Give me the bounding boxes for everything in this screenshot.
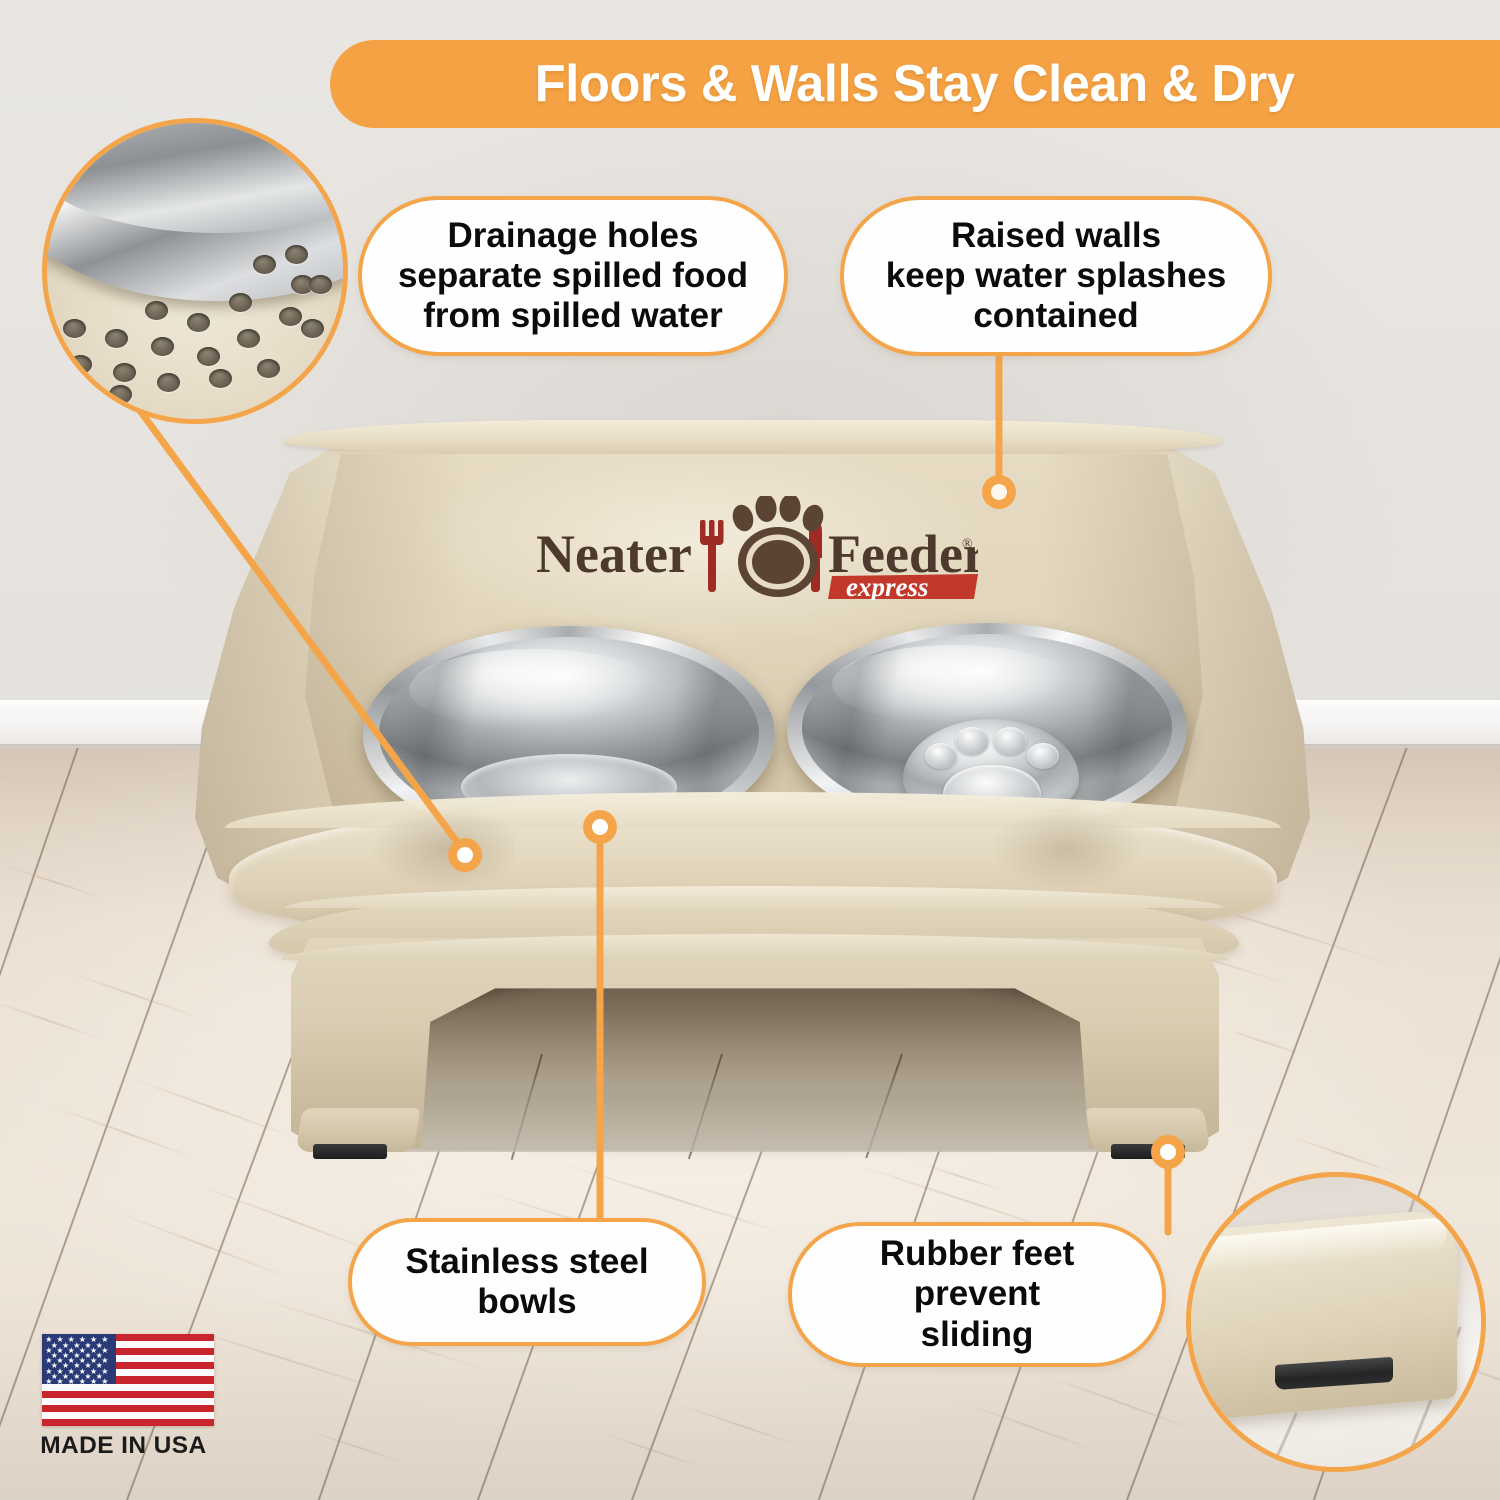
logo-word-neater: Neater <box>536 524 692 584</box>
flag-stripe <box>42 1419 214 1426</box>
product-feature-infographic: Neater Feeder ® express <box>0 0 1500 1500</box>
logo-registered-mark: ® <box>962 537 973 552</box>
paw-pad-4 <box>1027 743 1059 769</box>
drainage-hole <box>309 275 332 294</box>
logo-word-express: express <box>846 572 929 600</box>
drainage-holes-callout: Drainage holes separate spilled food fro… <box>358 196 788 356</box>
drainage-hole <box>63 319 86 338</box>
rubber-feet-callout-text: Rubber feet prevent sliding <box>880 1234 1074 1355</box>
flag-star: ★ <box>101 1378 108 1386</box>
paw-pad-3 <box>993 727 1027 755</box>
drainage-hole <box>209 369 232 388</box>
flag-canton: ★★★★★★★★★★★★★★★★★★★★★★★★★★★★★★★★★★★★★★★★… <box>42 1334 116 1384</box>
drainage-hole <box>285 245 308 264</box>
raised-walls-callout-text: Raised walls keep water splashes contain… <box>886 216 1226 337</box>
drainage-hole <box>109 385 132 404</box>
neater-feeder-express-product: Neater Feeder ® express <box>195 418 1310 1158</box>
drainage-hole <box>253 255 276 274</box>
paw-pad-2 <box>955 727 989 755</box>
rubber-foot-photo <box>1186 1172 1486 1472</box>
flag-star: ★ <box>45 1378 52 1386</box>
drainage-hole <box>301 319 324 338</box>
banner-title: Floors & Walls Stay Clean & Dry <box>535 54 1295 114</box>
drainage-hole <box>279 307 302 326</box>
made-in-usa-badge: ★★★★★★★★★★★★★★★★★★★★★★★★★★★★★★★★★★★★★★★★… <box>42 1334 220 1462</box>
header-banner: Floors & Walls Stay Clean & Dry <box>330 40 1500 128</box>
rubber-foot-left <box>313 1144 387 1159</box>
flag-star: ★ <box>68 1378 75 1386</box>
plate-icon <box>738 527 818 597</box>
flag-star: ★ <box>90 1378 97 1386</box>
pedestal-arch-floor <box>395 1068 1117 1152</box>
made-in-usa-label: MADE IN USA <box>40 1432 222 1460</box>
raised-walls-callout: Raised walls keep water splashes contain… <box>840 196 1272 356</box>
drainage-holes-callout-text: Drainage holes separate spilled food fro… <box>398 216 748 337</box>
drainage-hole <box>187 313 210 332</box>
rubber-feet-callout: Rubber feet prevent sliding <box>788 1222 1166 1367</box>
drainage-hole <box>229 293 252 312</box>
drainage-hole <box>257 359 280 378</box>
drainage-hole <box>237 329 260 348</box>
us-flag-icon: ★★★★★★★★★★★★★★★★★★★★★★★★★★★★★★★★★★★★★★★★… <box>42 1334 214 1426</box>
drainage-hole <box>105 329 128 348</box>
drainage-hole <box>151 337 174 356</box>
drainage-holes-photo <box>42 118 348 424</box>
flag-stripe <box>42 1391 214 1398</box>
drainage-hole <box>113 363 136 382</box>
feeder-top-rim <box>283 420 1223 454</box>
stainless-bowls-callout-text: Stainless steel bowls <box>405 1242 648 1323</box>
neater-feeder-logo: Neater Feeder ® express <box>528 496 978 600</box>
express-banner: express <box>828 572 978 600</box>
stainless-bowls-callout: Stainless steel bowls <box>348 1218 706 1346</box>
flag-stripe <box>42 1405 214 1412</box>
drainage-hole <box>69 355 92 374</box>
drainage-hole <box>157 373 180 392</box>
fork-icon <box>700 520 724 592</box>
drainage-hole <box>145 301 168 320</box>
logo-artwork: Neater Feeder ® express <box>528 496 978 600</box>
paw-pad-1 <box>925 743 957 769</box>
drainage-hole <box>197 347 220 366</box>
flag-star: ★ <box>56 1378 63 1386</box>
rubber-foot-right <box>1111 1144 1185 1159</box>
inset-bowl-rim <box>42 118 348 301</box>
flag-star: ★ <box>79 1378 86 1386</box>
